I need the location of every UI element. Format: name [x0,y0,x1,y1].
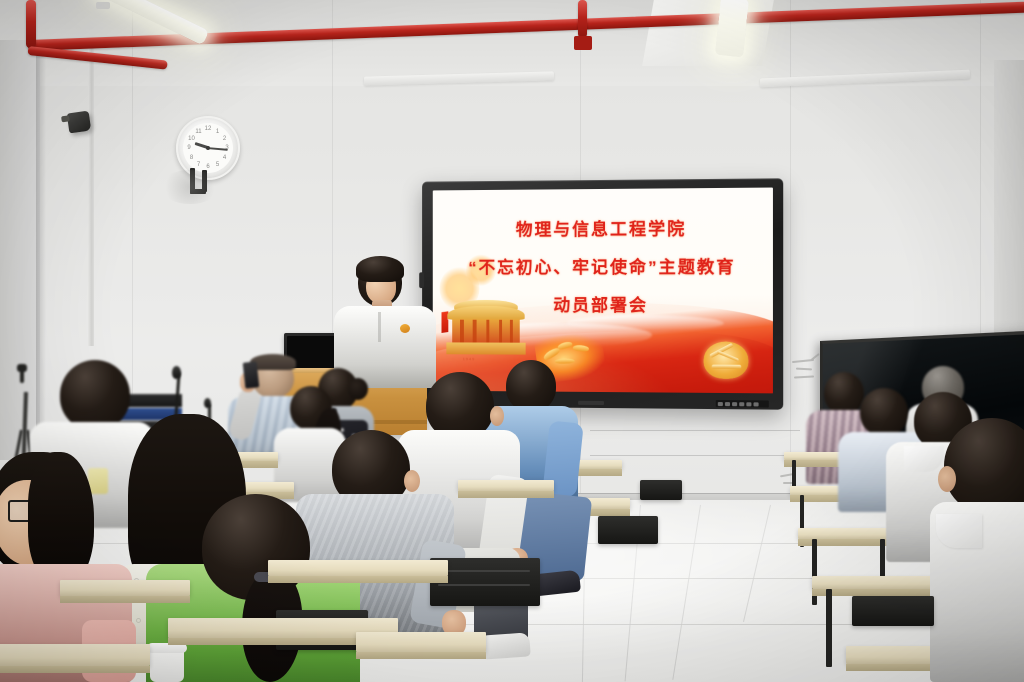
slide-title-line-2: “不忘初心、牢记使命”主题教育 [433,253,773,279]
light-mount [96,2,110,9]
student-desk [812,576,938,589]
clock-numeral: 11 [195,129,201,135]
ear [404,470,420,492]
classroom-photo: 12 1 2 3 4 5 6 7 8 9 10 11 [0,0,1024,682]
control-button[interactable] [732,402,737,406]
gate-column [499,320,502,343]
student-desk [458,480,554,491]
shoe [533,570,581,597]
smartphone[interactable] [243,361,260,388]
head [944,418,1024,514]
display-control-panel[interactable] [716,400,769,408]
gate-column [510,320,513,343]
student-desk [0,644,150,666]
control-button[interactable] [718,402,723,406]
clock-numeral: 8 [190,155,193,161]
clock-numeral: 9 [187,145,190,151]
ceiling-light-patch [642,0,774,66]
hair-bun [348,378,368,400]
clock-numeral: 2 [223,136,226,142]
ear [490,406,504,426]
display-brand-logo [578,401,604,405]
party-emblem-graphic [703,342,748,379]
right-wall [994,60,1024,360]
ear [938,466,956,492]
tripod-head [12,364,32,382]
wall-panel-line [590,430,800,431]
student-desk [798,528,894,539]
wall-mounted-speaker [67,111,92,134]
chair-back [852,596,934,626]
student-desk [60,580,190,596]
clock-numeral: 4 [223,155,226,161]
presenter-hair [356,256,404,282]
clock-numeral: 5 [216,162,219,168]
control-button[interactable] [746,402,751,406]
student-desk [268,560,448,576]
slide-title-line-3: 动员部署会 [433,291,773,316]
control-button[interactable] [753,402,758,406]
gate-column [486,320,489,343]
slide-text-block: 物理与信息工程学院 “不忘初心、牢记使命”主题教育 动员部署会 [433,214,773,316]
paper-cup[interactable] [150,648,184,682]
presenter-lapel-pin [400,324,410,333]
chair-back [640,480,682,500]
slide-title-line-1: 物理与信息工程学院 [433,214,773,241]
microphone-head [204,398,211,408]
clock-numeral: 7 [197,162,200,168]
microphone-head [172,366,181,379]
gate-base [446,342,526,354]
student-desk [356,632,486,652]
clock-numeral: 12 [205,126,212,132]
sprinkler-pipe-drop [26,0,36,48]
clock-face: 12 1 2 3 4 5 6 7 8 9 10 11 [183,123,233,173]
clock-minute-hand [208,147,228,151]
wall-panel-line [590,455,800,456]
shirt-placket [378,312,381,342]
control-button[interactable] [739,402,744,406]
control-button[interactable] [725,402,730,406]
chair-back [598,516,658,544]
student-desk [784,452,846,460]
pipe-joint [574,36,592,50]
clock-numeral: 1 [216,129,219,135]
gate-column [460,319,463,342]
wall-smudge [160,170,220,204]
desk-leg [826,589,832,667]
gate-column [473,319,476,342]
collar [936,514,982,548]
audience-member-foreground-right [930,418,1024,680]
shoe [481,632,531,659]
slide-caption-tiny: 1949 [463,356,476,361]
clock-center-pin [206,146,210,150]
clock-numeral: 10 [188,136,195,142]
wall-conduit [88,46,94,346]
sprinkler-pipe-drop [578,0,587,38]
